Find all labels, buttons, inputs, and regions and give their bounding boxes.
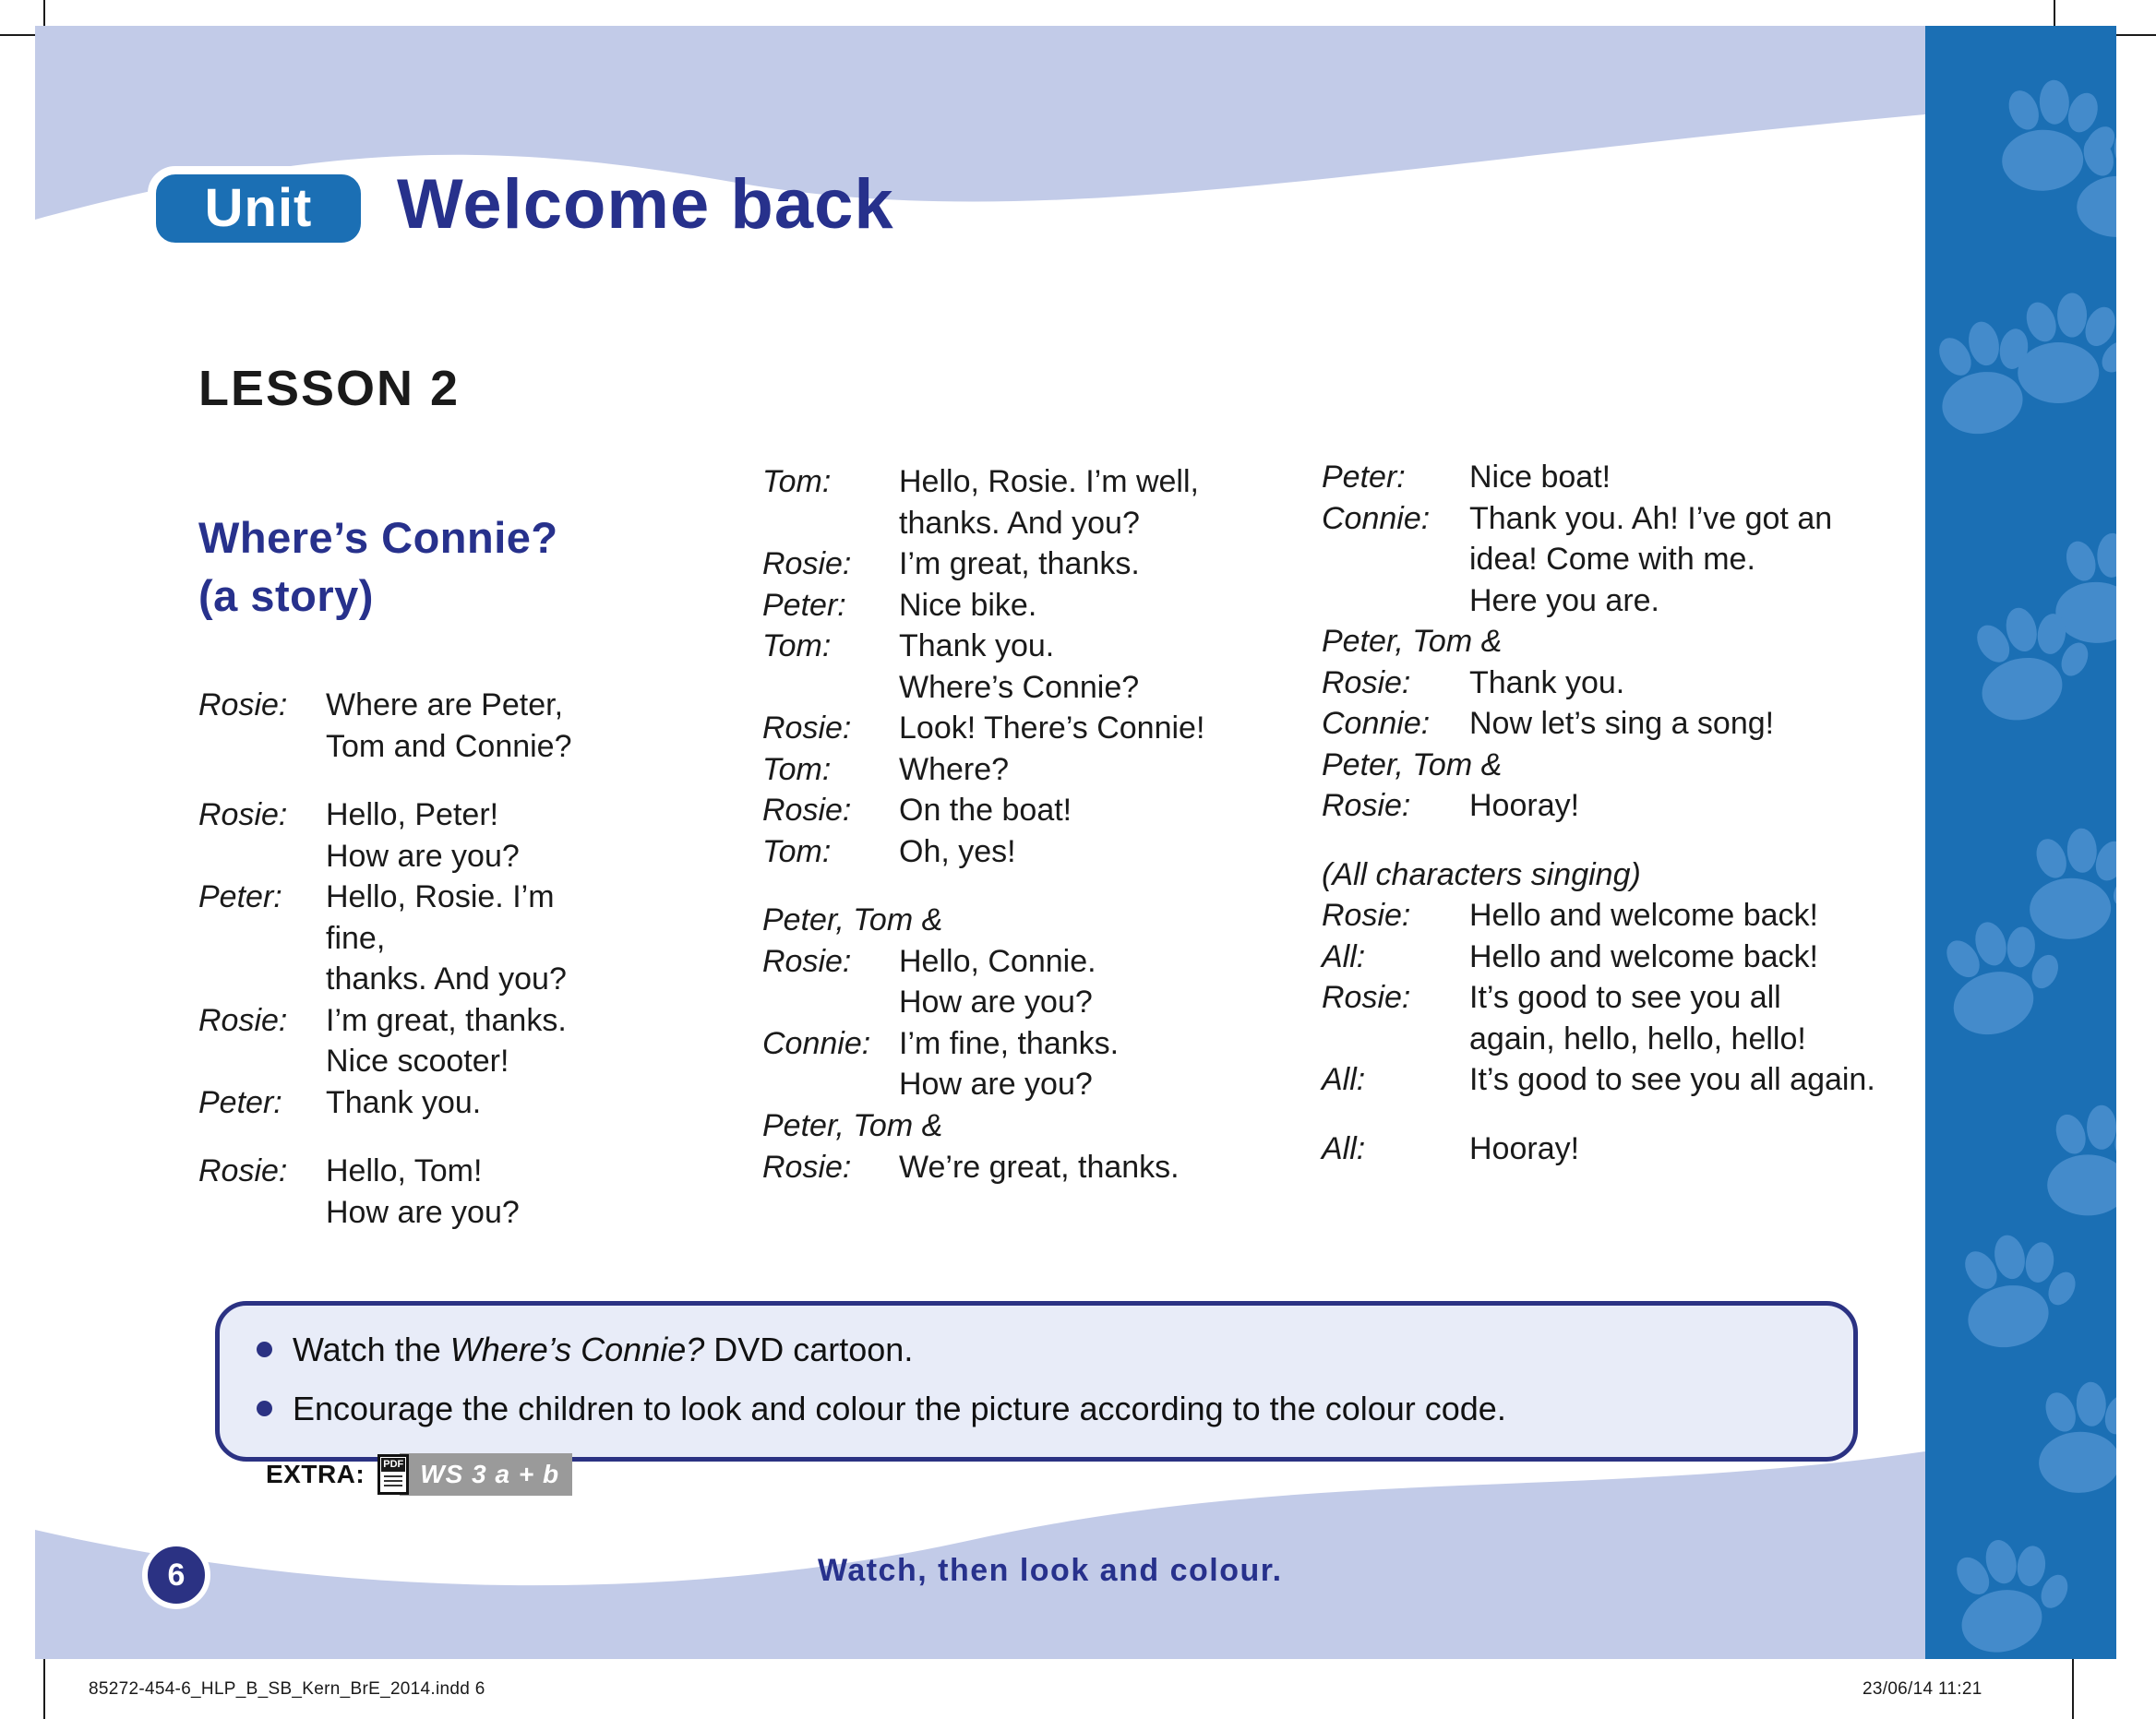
speaker-label: Connie: xyxy=(1322,703,1469,745)
dialogue-line: thanks. And you? xyxy=(762,503,1279,544)
dialogue-line: Connie:Thank you. Ah! I’ve got an xyxy=(1322,498,1894,540)
dialogue-line: How are you? xyxy=(762,1064,1279,1105)
dialogue-line: Rosie:Look! There’s Connie! xyxy=(762,708,1279,749)
dialogue-line: Rosie:Hello, Tom! xyxy=(198,1151,586,1192)
story-title: Where’s Connie? (a story) xyxy=(198,509,558,625)
dialogue-line: Tom:Oh, yes! xyxy=(762,831,1279,873)
dialogue-line: thanks. And you? xyxy=(198,959,586,1000)
dialogue-text: again, hello, hello, hello! xyxy=(1469,1019,1894,1060)
speaker-label: All: xyxy=(1322,937,1469,978)
print-timestamp: 23/06/14 11:21 xyxy=(1863,1679,1982,1700)
dialogue-line: Peter, Tom & xyxy=(762,900,1279,941)
dialogue-text: thanks. And you? xyxy=(326,959,586,1000)
crop-mark-top-left-v xyxy=(43,0,45,26)
dialogue-text: Hello and welcome back! xyxy=(1469,895,1894,937)
dialogue-text: Thank you. xyxy=(899,626,1279,667)
speaker-label: Connie: xyxy=(1322,498,1469,540)
dialogue-line: Tom:Thank you. xyxy=(762,626,1279,667)
pdf-icon[interactable]: PDF xyxy=(377,1454,409,1495)
dialogue-line: Rosie:Hello and welcome back! xyxy=(1322,895,1894,937)
dialogue-line: Tom:Where? xyxy=(762,749,1279,791)
dialogue-block: All:Hooray! xyxy=(1322,1128,1894,1170)
dialogue-text: Thank you. xyxy=(1469,663,1894,704)
page-title: Welcome back xyxy=(397,164,894,245)
dialogue-text: Hooray! xyxy=(1469,785,1894,827)
dialogue-block: Peter, Tom &Rosie:Hello, Connie.How are … xyxy=(762,900,1279,1188)
dialogue-text: I’m great, thanks. xyxy=(326,1000,586,1042)
dialogue-line: Tom:Hello, Rosie. I’m well, xyxy=(762,461,1279,503)
dialogue-line: Rosie:We’re great, thanks. xyxy=(762,1147,1279,1188)
dialogue-text: It’s good to see you all again. xyxy=(1469,1059,1894,1101)
crop-mark-bottom-left-v xyxy=(43,1659,45,1719)
dialogue-text: Where? xyxy=(899,749,1279,791)
dialogue-line: All:It’s good to see you all again. xyxy=(1322,1059,1894,1101)
tip-item: Encourage the children to look and colou… xyxy=(257,1385,1816,1433)
dialogue-line: Peter, Tom & xyxy=(762,1105,1279,1147)
tip-text-emphasis: Where’s Connie? xyxy=(450,1331,704,1368)
print-file-name: 85272-454-6_HLP_B_SB_Kern_BrE_2014.indd … xyxy=(89,1679,485,1700)
dialogue-text: Hello, Tom! xyxy=(326,1151,586,1192)
story-title-line2: (a story) xyxy=(198,567,558,626)
extra-label: EXTRA: xyxy=(266,1460,365,1489)
extra-resources-row: EXTRA: PDF WS 3 a + b xyxy=(266,1453,572,1496)
dialogue-text: Tom and Connie? xyxy=(326,726,586,768)
dialogue-text: idea! Come with me. xyxy=(1469,539,1894,580)
dialogue-text: Nice scooter! xyxy=(326,1041,586,1082)
dialogue-line: How are you? xyxy=(762,982,1279,1023)
dialogue-line: Rosie:Hello, Peter! xyxy=(198,794,586,836)
dialogue-line: All:Hooray! xyxy=(1322,1128,1894,1170)
dialogue-line: Peter:Hello, Rosie. I’m fine, xyxy=(198,877,586,959)
crop-mark-top-left-h xyxy=(0,34,35,36)
speaker-label: Rosie: xyxy=(1322,663,1469,704)
paw-print-sidebar xyxy=(1925,26,2116,1659)
stage-direction: (All characters singing) xyxy=(1322,854,1894,896)
dialogue-text: Hello, Rosie. I’m well, xyxy=(899,461,1279,503)
speaker-label: Connie: xyxy=(762,1023,899,1065)
dialogue-line: Peter, Tom & xyxy=(1322,621,1894,663)
dialogue-text: Nice bike. xyxy=(899,585,1279,627)
dialogue-text: Thank you. Ah! I’ve got an xyxy=(1469,498,1894,540)
dialogue-line: Tom and Connie? xyxy=(198,726,586,768)
dialogue-text: Where’s Connie? xyxy=(899,667,1279,709)
teacher-tip-box: Watch the Where’s Connie? DVD cartoon.En… xyxy=(215,1301,1858,1462)
unit-badge: Unit xyxy=(148,166,369,251)
dialogue-line: Rosie:Where are Peter, xyxy=(198,685,586,726)
worksheet-chip[interactable]: WS 3 a + b xyxy=(400,1453,572,1496)
dialogue-text: Where are Peter, xyxy=(326,685,586,726)
speaker-label: Rosie: xyxy=(1322,895,1469,937)
dialogue-line: All:Hello and welcome back! xyxy=(1322,937,1894,978)
dialogue-line: Rosie:It’s good to see you all xyxy=(1322,977,1894,1019)
dialogue-column-3: Peter:Nice boat!Connie:Thank you. Ah! I’… xyxy=(1322,457,1894,1170)
speaker-label: Rosie: xyxy=(1322,785,1469,827)
bullet-icon xyxy=(257,1401,272,1416)
speaker-label: Tom: xyxy=(762,831,899,873)
dialogue-line: Rosie:I’m great, thanks. xyxy=(198,1000,586,1042)
dialogue-text: Hello and welcome back! xyxy=(1469,937,1894,978)
tip-text-pre: Encourage the children to look and colou… xyxy=(293,1390,1506,1427)
speaker-label: All: xyxy=(1322,1128,1469,1170)
lesson-heading: LESSON 2 xyxy=(198,360,460,417)
speaker-label: Tom: xyxy=(762,749,899,791)
speaker-label: Peter, Tom & xyxy=(762,900,942,941)
book-page: Unit Welcome back LESSON 2 Where’s Conni… xyxy=(0,0,2156,1719)
dialogue-line: Connie:Now let’s sing a song! xyxy=(1322,703,1894,745)
speaker-label: Rosie: xyxy=(198,1000,326,1042)
dialogue-text: How are you? xyxy=(326,836,586,877)
speaker-label: Rosie: xyxy=(762,941,899,983)
dialogue-line: Rosie:Thank you. xyxy=(1322,663,1894,704)
dialogue-line: Here you are. xyxy=(1322,580,1894,622)
dialogue-text: Hooray! xyxy=(1469,1128,1894,1170)
crop-mark-top-right-v xyxy=(2054,0,2055,26)
crop-mark-bottom-right-v xyxy=(2072,1659,2074,1719)
dialogue-text: How are you? xyxy=(899,1064,1279,1105)
dialogue-line: Peter:Thank you. xyxy=(198,1082,586,1124)
speaker-label: Rosie: xyxy=(762,1147,899,1188)
speaker-label: Rosie: xyxy=(762,708,899,749)
pdf-icon-lines xyxy=(384,1475,402,1488)
dialogue-text: I’m great, thanks. xyxy=(899,543,1279,585)
dialogue-block: Rosie:Where are Peter,Tom and Connie? xyxy=(198,685,586,767)
dialogue-line: Rosie:I’m great, thanks. xyxy=(762,543,1279,585)
speaker-label: Rosie: xyxy=(1322,977,1469,1019)
speaker-label: Rosie: xyxy=(198,1151,326,1192)
speaker-label: Peter: xyxy=(762,585,899,627)
tip-text: Encourage the children to look and colou… xyxy=(293,1385,1506,1433)
speaker-label: Rosie: xyxy=(762,790,899,831)
speaker-label: Rosie: xyxy=(198,794,326,836)
dialogue-text: We’re great, thanks. xyxy=(899,1147,1279,1188)
dialogue-text: Oh, yes! xyxy=(899,831,1279,873)
speaker-label: Tom: xyxy=(762,461,899,503)
speaker-label: Tom: xyxy=(762,626,899,667)
tip-text-post: DVD cartoon. xyxy=(704,1331,913,1368)
dialogue-text: Thank you. xyxy=(326,1082,586,1124)
dialogue-text: Here you are. xyxy=(1469,580,1894,622)
dialogue-block: Rosie:Hello, Tom!How are you? xyxy=(198,1151,586,1233)
dialogue-text: How are you? xyxy=(326,1192,586,1234)
speaker-label: Peter, Tom & xyxy=(1322,621,1502,663)
tip-text-pre: Watch the xyxy=(293,1331,450,1368)
tip-text: Watch the Where’s Connie? DVD cartoon. xyxy=(293,1326,913,1374)
dialogue-line: again, hello, hello, hello! xyxy=(1322,1019,1894,1060)
dialogue-line: Connie:I’m fine, thanks. xyxy=(762,1023,1279,1065)
dialogue-text: Nice boat! xyxy=(1469,457,1894,498)
dialogue-block: (All characters singing)Rosie:Hello and … xyxy=(1322,854,1894,1101)
dialogue-line: Rosie:Hello, Connie. xyxy=(762,941,1279,983)
tip-item: Watch the Where’s Connie? DVD cartoon. xyxy=(257,1326,1816,1374)
speaker-label: All: xyxy=(1322,1059,1469,1101)
page-number-badge: 6 xyxy=(142,1541,210,1609)
pdf-icon-label: PDF xyxy=(381,1458,405,1472)
activity-caption: Watch, then look and colour. xyxy=(818,1553,1283,1589)
story-title-line1: Where’s Connie? xyxy=(198,509,558,567)
dialogue-column-1: Rosie:Where are Peter,Tom and Connie?Ros… xyxy=(198,685,586,1233)
dialogue-text: Now let’s sing a song! xyxy=(1469,703,1894,745)
dialogue-line: How are you? xyxy=(198,836,586,877)
dialogue-line: idea! Come with me. xyxy=(1322,539,1894,580)
dialogue-line: Peter:Nice bike. xyxy=(762,585,1279,627)
speaker-label: Rosie: xyxy=(762,543,899,585)
speaker-label: Peter: xyxy=(1322,457,1469,498)
dialogue-line: Peter, Tom & xyxy=(1322,745,1894,786)
speaker-label: Peter, Tom & xyxy=(1322,745,1502,786)
dialogue-text: Hello, Peter! xyxy=(326,794,586,836)
dialogue-line: Peter:Nice boat! xyxy=(1322,457,1894,498)
dialogue-text: thanks. And you? xyxy=(899,503,1279,544)
dialogue-line: Rosie:On the boat! xyxy=(762,790,1279,831)
dialogue-line: How are you? xyxy=(198,1192,586,1234)
dialogue-text: Hello, Connie. xyxy=(899,941,1279,983)
dialogue-block: Rosie:Hello, Peter!How are you?Peter:Hel… xyxy=(198,794,586,1123)
dialogue-line: Where’s Connie? xyxy=(762,667,1279,709)
dialogue-line: Rosie:Hooray! xyxy=(1322,785,1894,827)
dialogue-text: Look! There’s Connie! xyxy=(899,708,1279,749)
dialogue-block: Tom:Hello, Rosie. I’m well,thanks. And y… xyxy=(762,461,1279,872)
dialogue-line: Nice scooter! xyxy=(198,1041,586,1082)
speaker-label: Peter: xyxy=(198,877,326,918)
dialogue-column-2: Tom:Hello, Rosie. I’m well,thanks. And y… xyxy=(762,461,1279,1188)
speaker-label: Peter: xyxy=(198,1082,326,1124)
dialogue-text: How are you? xyxy=(899,982,1279,1023)
bullet-icon xyxy=(257,1342,272,1357)
dialogue-text: On the boat! xyxy=(899,790,1279,831)
dialogue-block: Peter:Nice boat!Connie:Thank you. Ah! I’… xyxy=(1322,457,1894,827)
dialogue-text: It’s good to see you all xyxy=(1469,977,1894,1019)
dialogue-text: I’m fine, thanks. xyxy=(899,1023,1279,1065)
speaker-label: Rosie: xyxy=(198,685,326,726)
speaker-label: Peter, Tom & xyxy=(762,1105,942,1147)
dialogue-text: Hello, Rosie. I’m fine, xyxy=(326,877,586,959)
